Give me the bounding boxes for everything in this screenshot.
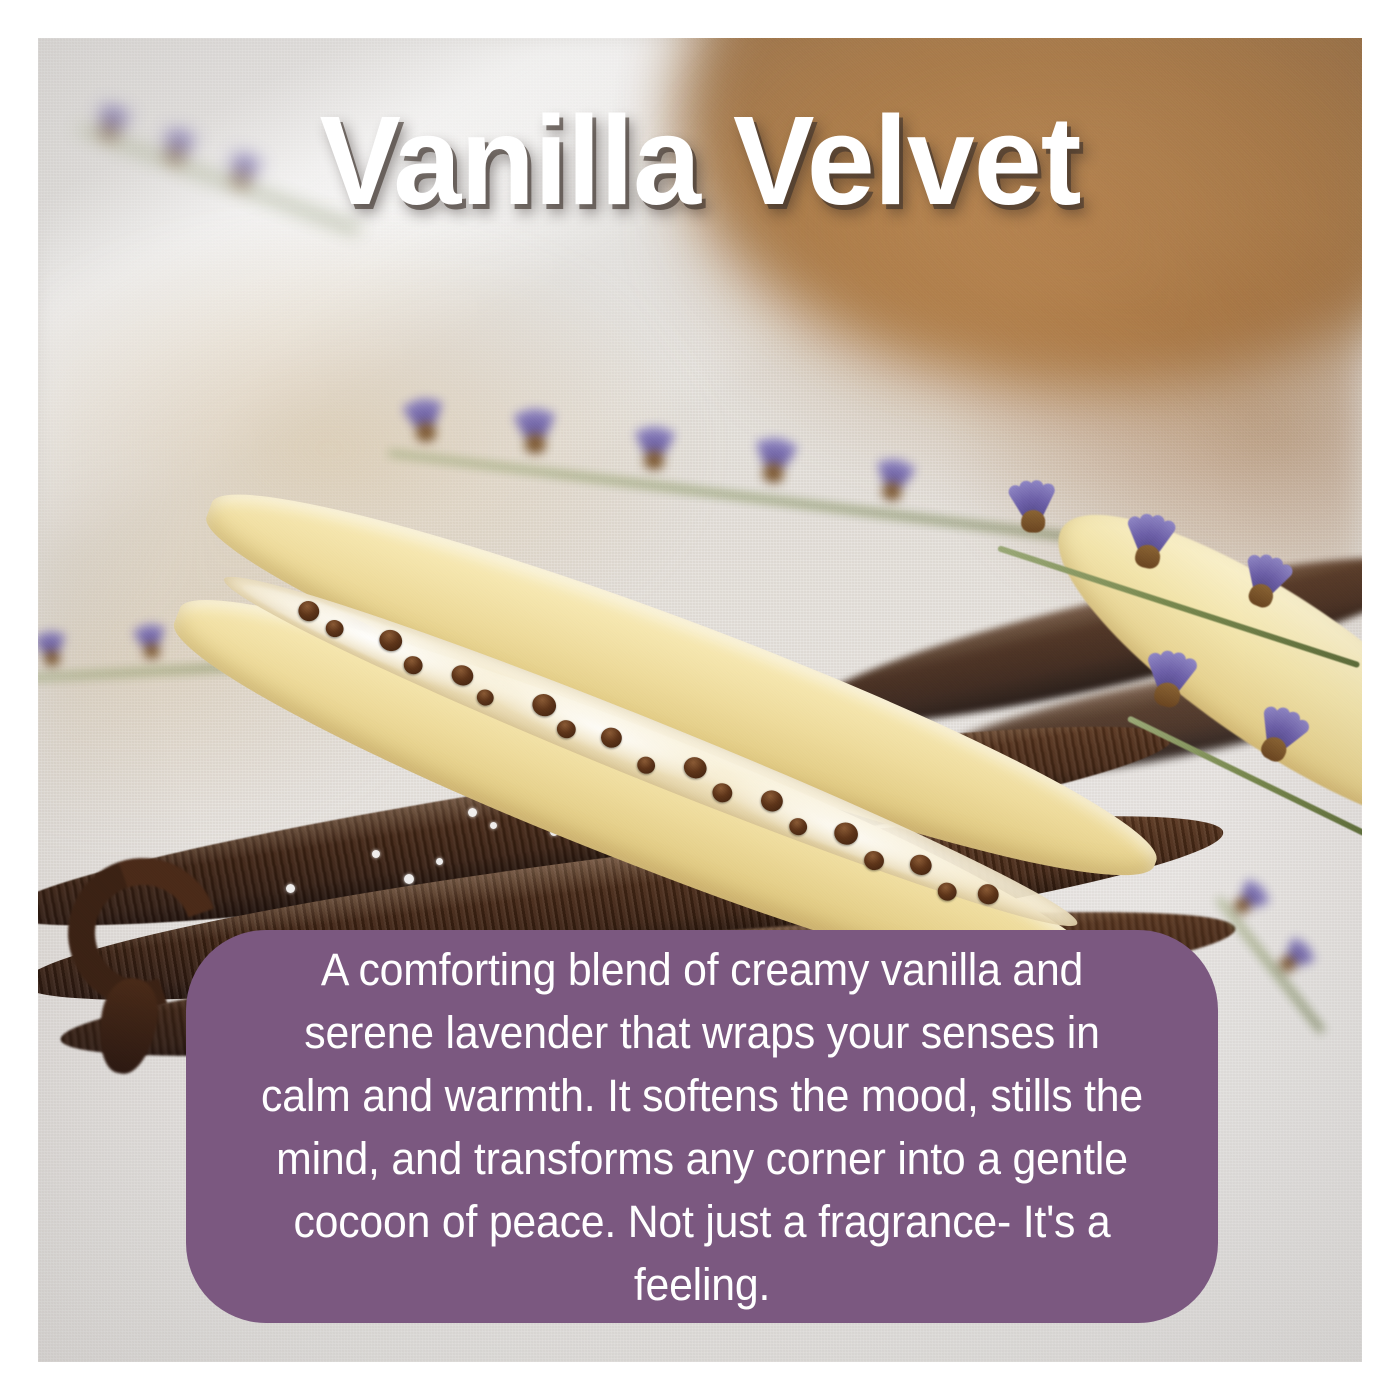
lavender-floret <box>405 397 446 466</box>
description-card: A comforting blend of creamy vanilla and… <box>186 930 1218 1323</box>
page-title: Vanilla Velvet <box>21 98 1379 224</box>
lavender-floret <box>38 630 68 685</box>
lavender-floret <box>514 407 557 479</box>
description-text: A comforting blend of creamy vanilla and… <box>256 938 1149 1316</box>
poster: Vanilla Velvet A comforting blend of cre… <box>0 0 1400 1400</box>
lavender-floret <box>1009 479 1057 562</box>
